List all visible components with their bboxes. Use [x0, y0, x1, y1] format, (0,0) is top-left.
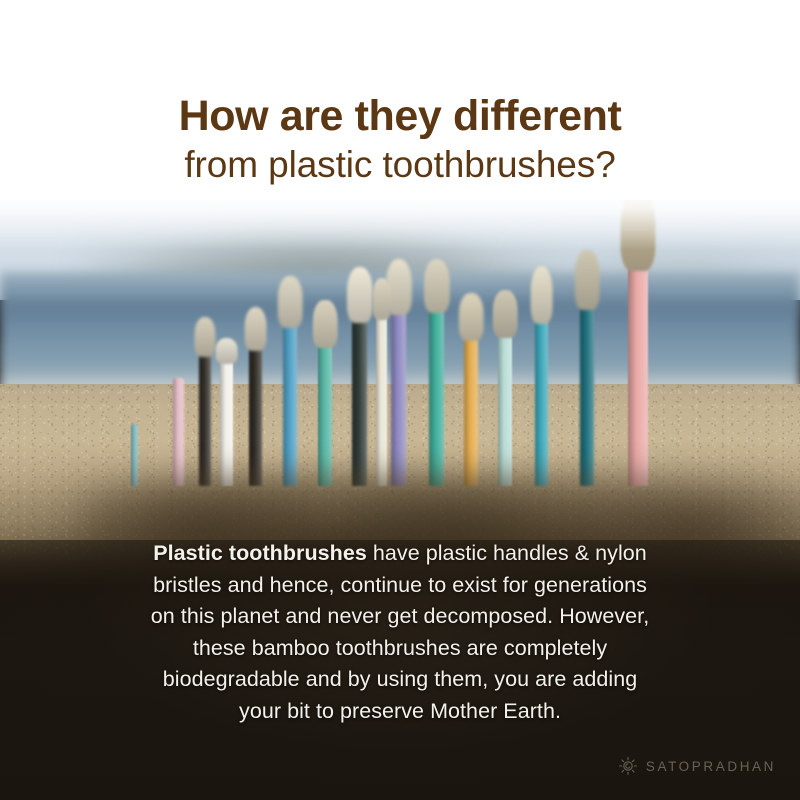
- brand-watermark: SATOPRADHAN: [618, 756, 776, 776]
- heading-block: How are they different from plastic toot…: [0, 0, 800, 186]
- caption-line: on this planet and never get decomposed.…: [70, 601, 730, 633]
- sun-spiral-icon: [618, 756, 638, 776]
- caption-line: your bit to preserve Mother Earth.: [70, 696, 730, 728]
- page-title: How are they different: [0, 0, 800, 141]
- caption-line: these bamboo toothbrushes are completely: [70, 633, 730, 665]
- brand-name: SATOPRADHAN: [646, 759, 776, 774]
- caption-line: biodegradable and by using them, you are…: [70, 664, 730, 696]
- page-subtitle: from plastic toothbrushes?: [0, 141, 800, 186]
- infographic-canvas: How are they different from plastic toot…: [0, 0, 800, 800]
- caption-line: Plastic toothbrushes have plastic handle…: [70, 538, 730, 570]
- caption-line: bristles and hence, continue to exist fo…: [70, 570, 730, 602]
- caption-emphasis: Plastic toothbrushes: [153, 541, 367, 565]
- caption-text: Plastic toothbrushes have plastic handle…: [70, 538, 730, 727]
